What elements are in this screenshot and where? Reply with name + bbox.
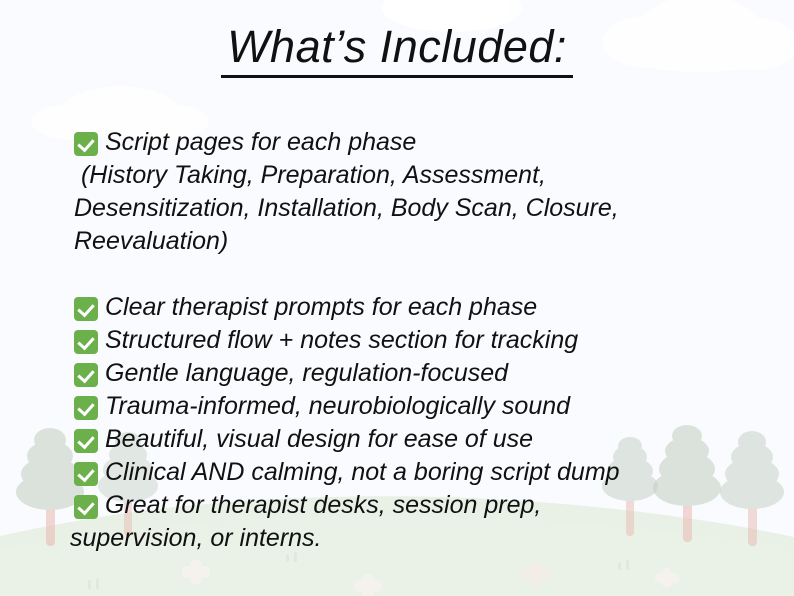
check-box-icon <box>74 363 98 387</box>
included-body: Script pages for each phase (History Tak… <box>74 126 734 555</box>
slide-canvas: What’s Included: Script pages for each p… <box>0 0 794 596</box>
list-item: Beautiful, visual design for ease of use <box>74 423 734 456</box>
feature-label: Trauma-informed, neurobiologically sound <box>105 392 570 420</box>
list-item: Structured flow + notes section for trac… <box>74 324 734 357</box>
check-box-icon <box>74 132 98 156</box>
list-item: Clear therapist prompts for each phase <box>74 291 734 324</box>
slide-content: What’s Included: Script pages for each p… <box>0 0 794 596</box>
feature-label: Clinical AND calming, not a boring scrip… <box>105 458 620 486</box>
intro-line-3: Desensitization, Installation, Body Scan… <box>74 194 619 222</box>
feature-label: Structured flow + notes section for trac… <box>105 326 578 354</box>
check-box-icon <box>74 429 98 453</box>
check-box-icon <box>74 396 98 420</box>
intro-line-4: Reevaluation) <box>74 227 228 255</box>
feature-label: Beautiful, visual design for ease of use <box>105 425 533 453</box>
check-box-icon <box>74 297 98 321</box>
page-title: What’s Included: <box>0 22 794 78</box>
feature-label: Clear therapist prompts for each phase <box>105 293 537 321</box>
intro-line-1: Script pages for each phase <box>105 128 416 156</box>
feature-label-continuation: supervision, or interns. <box>70 522 734 555</box>
paragraph-spacer <box>74 258 734 291</box>
list-item: Clinical AND calming, not a boring scrip… <box>74 456 734 489</box>
feature-list: Clear therapist prompts for each phase S… <box>74 291 734 555</box>
check-box-icon <box>74 330 98 354</box>
page-title-text: What’s Included: <box>221 22 573 78</box>
feature-label: Gentle language, regulation-focused <box>105 359 508 387</box>
list-item: Trauma-informed, neurobiologically sound <box>74 390 734 423</box>
feature-label: Great for therapist desks, session prep, <box>105 491 541 519</box>
intro-paragraph: Script pages for each phase (History Tak… <box>74 126 734 258</box>
check-box-icon <box>74 462 98 486</box>
check-box-icon <box>74 495 98 519</box>
list-item: Great for therapist desks, session prep,… <box>74 489 734 555</box>
intro-line-2: (History Taking, Preparation, Assessment… <box>74 161 546 189</box>
list-item: Gentle language, regulation-focused <box>74 357 734 390</box>
